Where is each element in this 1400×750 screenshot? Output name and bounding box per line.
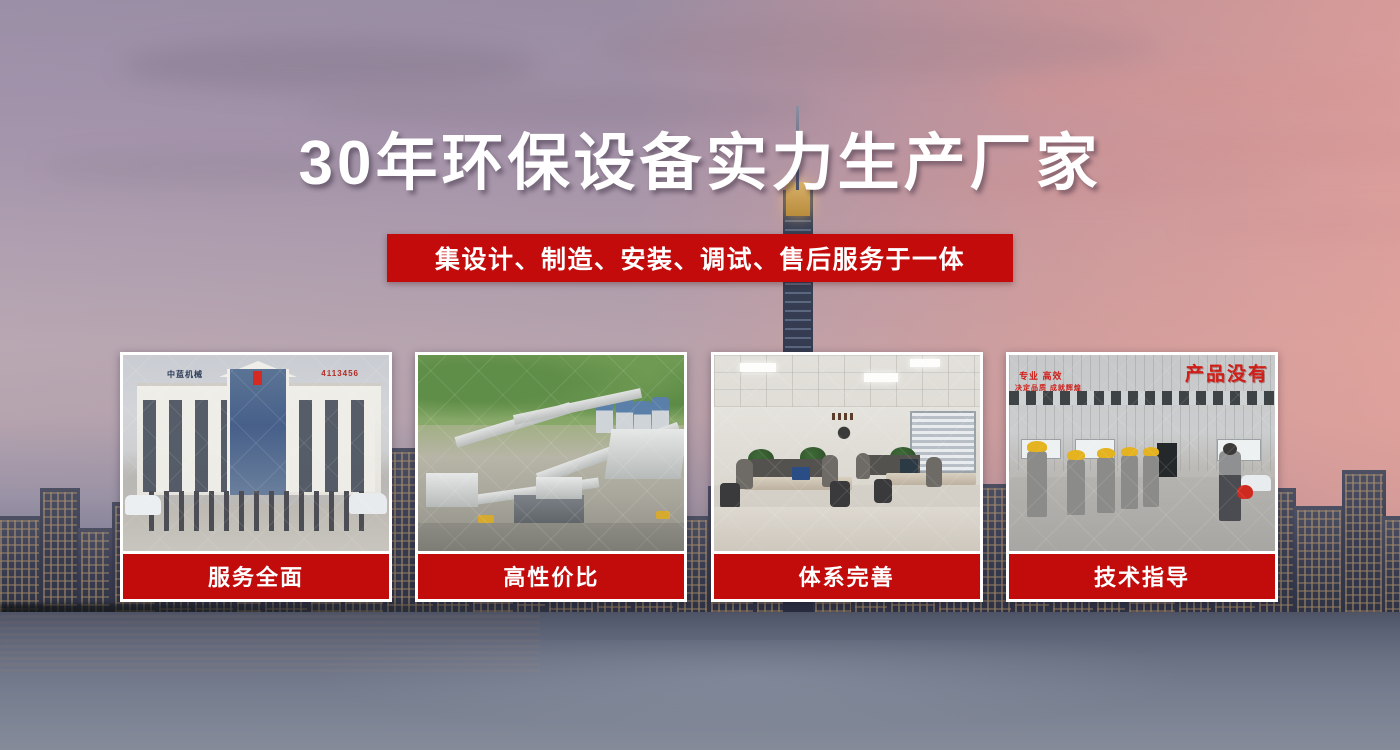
parked-car: [125, 495, 161, 515]
monitor-screen: [900, 459, 918, 473]
hard-hat-icon: [1067, 450, 1085, 460]
cloud-shape: [300, 88, 820, 128]
building-sign-company: 中蓝机械: [167, 369, 203, 380]
ceiling-light-panel: [740, 363, 776, 372]
building-silhouette: [1294, 506, 1344, 620]
card-photo-headquarters: 中蓝机械 4113456: [123, 355, 389, 551]
office-chair: [830, 481, 850, 507]
factory-worker: [1067, 459, 1085, 515]
excavator-vehicle: [478, 515, 494, 523]
cloud-shape: [120, 40, 540, 92]
building-sign-phone: 4113456: [321, 369, 359, 378]
hard-hat-icon: [1097, 448, 1115, 458]
factory-window-strip: [1009, 391, 1275, 405]
parked-car: [349, 493, 387, 514]
factory-shed: [605, 429, 685, 479]
factory-worker: [1097, 457, 1115, 513]
ceiling-light-panel: [864, 373, 898, 382]
card-photo-office-interior: [714, 355, 980, 551]
flag-icon: [253, 371, 262, 385]
card-label-service: 服务全面: [123, 554, 389, 599]
office-employee: [856, 453, 870, 479]
feature-card-system[interactable]: 体系完善: [711, 352, 983, 602]
factory-worker: [1143, 455, 1159, 507]
factory-slogan-large: 产品没有: [1185, 359, 1269, 386]
feature-card-service[interactable]: 中蓝机械 4113456 服务全面: [120, 352, 392, 602]
card-photo-plant-aerial: [418, 355, 684, 551]
office-chair: [874, 479, 892, 503]
card-label-value: 高性价比: [418, 554, 684, 599]
feature-card-row: 中蓝机械 4113456 服务全面: [120, 352, 1278, 602]
promo-banner: 30年环保设备实力生产厂家 集设计、制造、安装、调试、售后服务于一体 中蓝机械 …: [0, 0, 1400, 750]
ceiling-light-panel: [910, 359, 940, 367]
hard-hat-icon: [1121, 447, 1138, 456]
hard-hat-icon: [1027, 441, 1047, 452]
feature-card-guidance[interactable]: 产品没有 专业 高效 决定品质 成就辉煌: [1006, 352, 1278, 602]
factory-worker: [1121, 455, 1138, 509]
plant-yard: [418, 523, 684, 551]
factory-shed: [536, 477, 582, 499]
hard-hat-icon: [1143, 447, 1159, 456]
factory-door: [1157, 443, 1177, 477]
red-hard-hat-icon: [1237, 485, 1253, 499]
supervisor-head: [1223, 443, 1237, 455]
office-floor: [714, 507, 980, 551]
cloud-shape: [600, 18, 1160, 78]
river-sheen: [300, 640, 1200, 730]
card-label-system: 体系完善: [714, 554, 980, 599]
subtitle-banner: 集设计、制造、安装、调试、售后服务于一体: [0, 234, 1400, 282]
office-chair: [720, 483, 740, 509]
card-photo-workers-briefing: 产品没有 专业 高效 决定品质 成就辉煌: [1009, 355, 1275, 551]
subtitle-text: 集设计、制造、安装、调试、售后服务于一体: [387, 234, 1013, 282]
feature-card-value[interactable]: 高性价比: [415, 352, 687, 602]
staff-lineup: [149, 491, 365, 531]
factory-slogan-small-1: 专业 高效: [1019, 369, 1063, 382]
building-silhouette: [1382, 516, 1400, 620]
building-silhouette: [40, 488, 80, 620]
excavator-vehicle: [656, 511, 670, 519]
factory-worker: [1027, 451, 1047, 517]
card-label-guidance: 技术指导: [1009, 554, 1275, 599]
wall-decal: [826, 413, 862, 445]
page-title: 30年环保设备实力生产厂家: [0, 128, 1400, 199]
desk-partition: [752, 459, 826, 477]
cloud-shape: [980, 70, 1400, 116]
office-employee: [926, 457, 942, 487]
building-silhouette: [1342, 470, 1386, 620]
factory-shed: [426, 473, 478, 507]
building-glass-entrance: [227, 369, 289, 495]
laptop-screen: [792, 467, 810, 480]
supervisor-person: [1219, 451, 1241, 521]
